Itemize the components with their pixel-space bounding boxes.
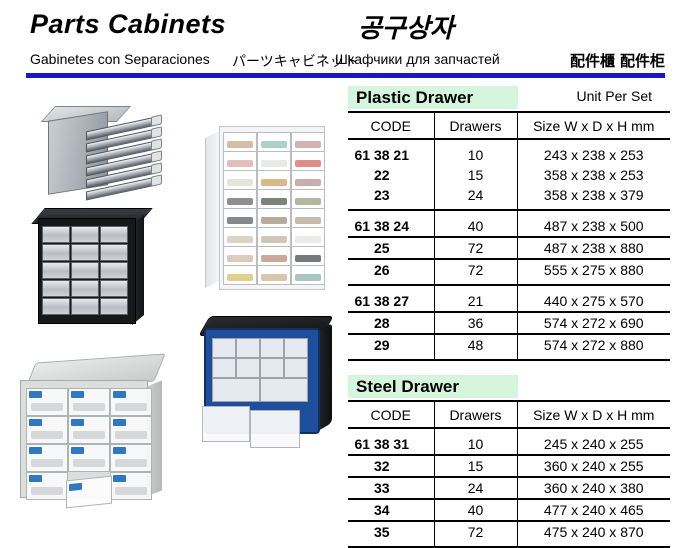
product-image-black-steel-drawer-cabinet	[28, 208, 148, 328]
cell-drawers: 40	[434, 210, 517, 237]
column-header-size: Size W x D x H mm	[517, 401, 670, 428]
drawer	[212, 358, 236, 378]
drawer	[257, 227, 291, 247]
cell-size: 245 x 240 x 255	[517, 428, 670, 455]
drawer	[71, 280, 99, 297]
drawer	[110, 472, 152, 500]
cell-code: 34	[348, 499, 434, 521]
product-image-blue-black-drawer-cabinet	[196, 314, 340, 466]
column-header-drawers: Drawers	[434, 112, 517, 139]
drawer	[236, 358, 260, 378]
table-header-row: CODE Drawers Size W x D x H mm	[348, 112, 670, 139]
drawer	[110, 444, 152, 472]
cell-code: 26	[348, 259, 434, 285]
drawer	[71, 226, 99, 243]
product-image-grey-plastic-drawer-cabinet	[14, 358, 174, 510]
drawer	[223, 246, 257, 266]
table-header-row: CODE Drawers Size W x D x H mm	[348, 401, 670, 428]
section-title-steel-drawer: Steel Drawer	[348, 375, 518, 398]
cell-code: 22	[348, 165, 434, 185]
drawer-pulled-out	[66, 476, 112, 509]
drawer	[42, 244, 70, 261]
drawer	[110, 388, 152, 416]
drawer	[100, 262, 128, 279]
cell-code: 28	[348, 312, 434, 334]
cell-drawers: 21	[434, 285, 517, 312]
drawer	[68, 388, 110, 416]
cell-drawers: 24	[434, 185, 517, 210]
table-row: 32 15 360 x 240 x 255	[348, 455, 670, 477]
drawer	[42, 280, 70, 297]
column-header-code: CODE	[348, 112, 434, 139]
cell-size: 477 x 240 x 465	[517, 499, 670, 521]
cell-size: 358 x 238 x 253	[517, 165, 670, 185]
drawer	[26, 416, 68, 444]
drawer	[26, 388, 68, 416]
drawer	[42, 226, 70, 243]
cell-code: 61 38 21	[348, 139, 434, 165]
cell-size: 555 x 275 x 880	[517, 259, 670, 285]
page-header: Parts Cabinets 공구상자 Gabinetes con Separa…	[0, 0, 687, 80]
drawer	[291, 132, 325, 152]
section-steel-drawer: Steel Drawer CODE Drawers Size W x D x H…	[348, 375, 670, 548]
column-header-code: CODE	[348, 401, 434, 428]
cell-size: 574 x 272 x 880	[517, 334, 670, 360]
table-row: 35 72 475 x 240 x 870	[348, 521, 670, 547]
drawer-pulled-out	[202, 406, 250, 442]
drawer	[110, 416, 152, 444]
table-row: 28 36 574 x 272 x 690	[348, 312, 670, 334]
drawer	[223, 132, 257, 152]
table-row: 22 15 358 x 238 x 253	[348, 165, 670, 185]
subtitle-russian: Шкафчики для запчастей	[335, 51, 500, 67]
drawer	[284, 358, 308, 378]
table-row: 61 38 24 40 487 x 238 x 500	[348, 210, 670, 237]
table-row: 29 48 574 x 272 x 880	[348, 334, 670, 360]
column-header-drawers: Drawers	[434, 401, 517, 428]
drawer	[257, 189, 291, 209]
drawer-pulled-out	[250, 410, 300, 448]
section-spacer	[348, 361, 670, 375]
cell-drawers: 40	[434, 499, 517, 521]
drawer	[212, 378, 260, 402]
cell-drawers: 15	[434, 455, 517, 477]
drawer	[100, 244, 128, 261]
drawer	[257, 246, 291, 266]
drawer	[223, 208, 257, 228]
product-image-metal-tilt-bin-rack	[40, 108, 170, 196]
drawer	[100, 280, 128, 297]
drawer	[291, 189, 325, 209]
cell-code: 25	[348, 237, 434, 259]
drawer	[291, 227, 325, 247]
drawer	[223, 151, 257, 171]
spec-table-steel-drawer: CODE Drawers Size W x D x H mm 61 38 31 …	[348, 400, 670, 548]
table-group: 61 38 21 10 243 x 238 x 253 22 15 358 x …	[348, 139, 670, 210]
table-group: 61 38 27 21 440 x 275 x 570 28 36 574 x …	[348, 285, 670, 360]
product-image-clear-plastic-drawer-cabinet	[205, 120, 333, 292]
drawer	[236, 338, 260, 358]
cell-drawers: 72	[434, 237, 517, 259]
table-row: 61 38 27 21 440 x 275 x 570	[348, 285, 670, 312]
drawer	[71, 244, 99, 261]
page-title: Parts Cabinets	[30, 9, 226, 40]
section-header: Steel Drawer	[348, 375, 670, 400]
unit-per-set-label: Unit Per Set	[577, 88, 652, 104]
cell-size: 440 x 275 x 570	[517, 285, 670, 312]
cell-size: 475 x 240 x 870	[517, 521, 670, 547]
cell-size: 360 x 240 x 255	[517, 455, 670, 477]
drawer	[260, 338, 284, 358]
drawer	[68, 416, 110, 444]
drawer	[42, 298, 70, 315]
drawer	[71, 298, 99, 315]
cell-size: 487 x 238 x 500	[517, 210, 670, 237]
table-row: 33 24 360 x 240 x 380	[348, 477, 670, 499]
subtitle-chinese-traditional: 配件櫃	[570, 50, 615, 71]
drawer	[291, 170, 325, 190]
drawer	[257, 208, 291, 228]
cell-size: 487 x 238 x 880	[517, 237, 670, 259]
cell-code: 61 38 27	[348, 285, 434, 312]
drawer	[257, 265, 291, 285]
drawer	[257, 132, 291, 152]
header-divider-rule	[26, 73, 665, 78]
cell-drawers: 72	[434, 521, 517, 547]
drawer	[26, 472, 68, 500]
cell-drawers: 72	[434, 259, 517, 285]
spec-table-plastic-drawer: CODE Drawers Size W x D x H mm 61 38 21 …	[348, 111, 670, 361]
table-group: 61 38 24 40 487 x 238 x 500 25 72 487 x …	[348, 210, 670, 285]
drawer	[291, 208, 325, 228]
drawer	[223, 170, 257, 190]
cell-size: 360 x 240 x 380	[517, 477, 670, 499]
subtitle-spanish: Gabinetes con Separaciones	[30, 51, 210, 67]
drawer	[68, 444, 110, 472]
cell-code: 32	[348, 455, 434, 477]
drawer	[212, 338, 236, 358]
drawer	[100, 298, 128, 315]
drawer	[257, 151, 291, 171]
cell-drawers: 10	[434, 139, 517, 165]
drawer	[42, 262, 70, 279]
table-row: 26 72 555 x 275 x 880	[348, 259, 670, 285]
page-title-korean: 공구상자	[358, 8, 454, 45]
cell-drawers: 48	[434, 334, 517, 360]
section-plastic-drawer: Plastic Drawer Unit Per Set CODE Drawers…	[348, 86, 670, 361]
spec-tables: Plastic Drawer Unit Per Set CODE Drawers…	[348, 86, 670, 548]
drawer	[291, 265, 325, 285]
drawer	[260, 358, 284, 378]
drawer	[223, 189, 257, 209]
table-row: 61 38 21 10 243 x 238 x 253	[348, 139, 670, 165]
cell-size: 574 x 272 x 690	[517, 312, 670, 334]
drawer	[260, 378, 308, 402]
table-row: 61 38 31 10 245 x 240 x 255	[348, 428, 670, 455]
drawer	[223, 227, 257, 247]
cell-size: 358 x 238 x 379	[517, 185, 670, 210]
drawer	[291, 151, 325, 171]
cell-size: 243 x 238 x 253	[517, 139, 670, 165]
cell-drawers: 10	[434, 428, 517, 455]
cell-code: 61 38 31	[348, 428, 434, 455]
subtitle-chinese-simplified: 配件柜	[620, 50, 665, 71]
cell-drawers: 15	[434, 165, 517, 185]
cell-code: 33	[348, 477, 434, 499]
table-row: 23 24 358 x 238 x 379	[348, 185, 670, 210]
cell-drawers: 36	[434, 312, 517, 334]
drawer	[71, 262, 99, 279]
section-header: Plastic Drawer Unit Per Set	[348, 86, 670, 111]
section-title-plastic-drawer: Plastic Drawer	[348, 86, 518, 109]
drawer	[26, 444, 68, 472]
cell-drawers: 24	[434, 477, 517, 499]
drawer	[100, 226, 128, 243]
drawer	[223, 265, 257, 285]
cell-code: 61 38 24	[348, 210, 434, 237]
table-group: 61 38 31 10 245 x 240 x 255 32 15 360 x …	[348, 428, 670, 547]
drawer	[291, 246, 325, 266]
cell-code: 29	[348, 334, 434, 360]
cell-code: 23	[348, 185, 434, 210]
table-row: 25 72 487 x 238 x 880	[348, 237, 670, 259]
cell-code: 35	[348, 521, 434, 547]
drawer	[284, 338, 308, 358]
column-header-size: Size W x D x H mm	[517, 112, 670, 139]
drawer	[257, 170, 291, 190]
table-row: 34 40 477 x 240 x 465	[348, 499, 670, 521]
